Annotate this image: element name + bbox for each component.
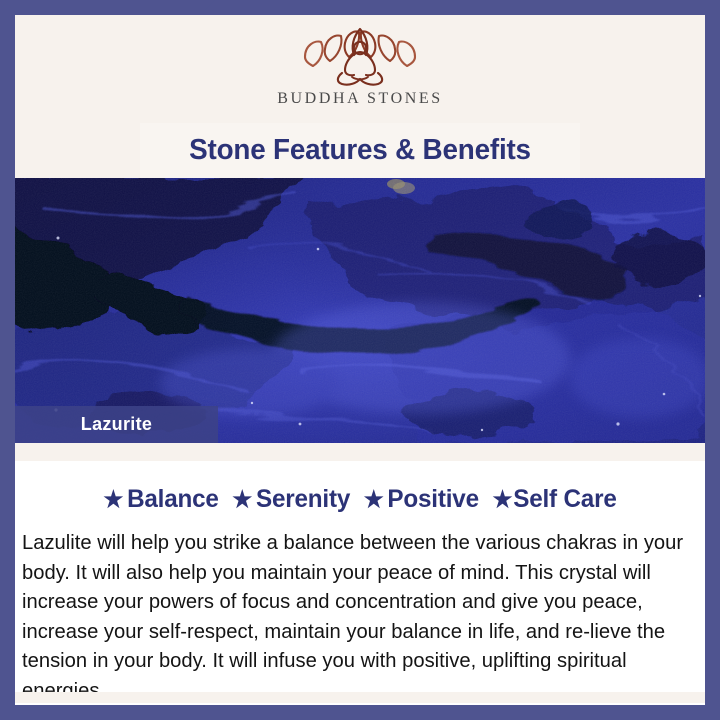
info-card: BUDDHA STONES Stone Features & Benefits (15, 15, 705, 705)
title-banner: Stone Features & Benefits (140, 123, 580, 178)
keyword-item-balance: ★ Balance (103, 485, 232, 514)
content-area: ★ Balance ★ Serenity ★ Positive ★ Self C… (15, 461, 705, 705)
stone-photo-image (15, 178, 705, 443)
stone-name-chip: Lazurite (15, 406, 218, 443)
star-icon: ★ (364, 488, 384, 511)
keyword-label: Positive (387, 485, 478, 514)
stone-name-label: Lazurite (81, 414, 152, 435)
stone-photo: Lazurite (15, 178, 705, 443)
frame-right-band (705, 0, 720, 720)
page-title: Stone Features & Benefits (189, 134, 531, 167)
lotus-meditation-figure-icon (285, 23, 435, 89)
star-icon: ★ (492, 488, 512, 511)
bottom-cream-sliver (15, 692, 705, 703)
star-icon: ★ (103, 488, 123, 511)
brand-header: BUDDHA STONES (15, 15, 705, 123)
frame-top-band (0, 0, 720, 15)
keyword-item-positive: ★ Positive (364, 485, 493, 514)
keyword-label: Serenity (256, 485, 350, 514)
frame-left-band (0, 0, 15, 720)
keyword-item-serenity: ★ Serenity (232, 485, 363, 514)
photo-separator-strip (15, 443, 705, 461)
keyword-label: Balance (127, 485, 219, 514)
description-paragraph: Lazulite will help you strike a balance … (22, 528, 688, 705)
frame-bottom-band (0, 703, 720, 720)
keyword-item-self-care: ★ Self Care (492, 485, 616, 514)
brand-name: BUDDHA STONES (277, 90, 443, 108)
keyword-label: Self Care (513, 485, 616, 514)
keyword-list: ★ Balance ★ Serenity ★ Positive ★ Self C… (32, 485, 688, 514)
star-icon: ★ (232, 488, 252, 511)
